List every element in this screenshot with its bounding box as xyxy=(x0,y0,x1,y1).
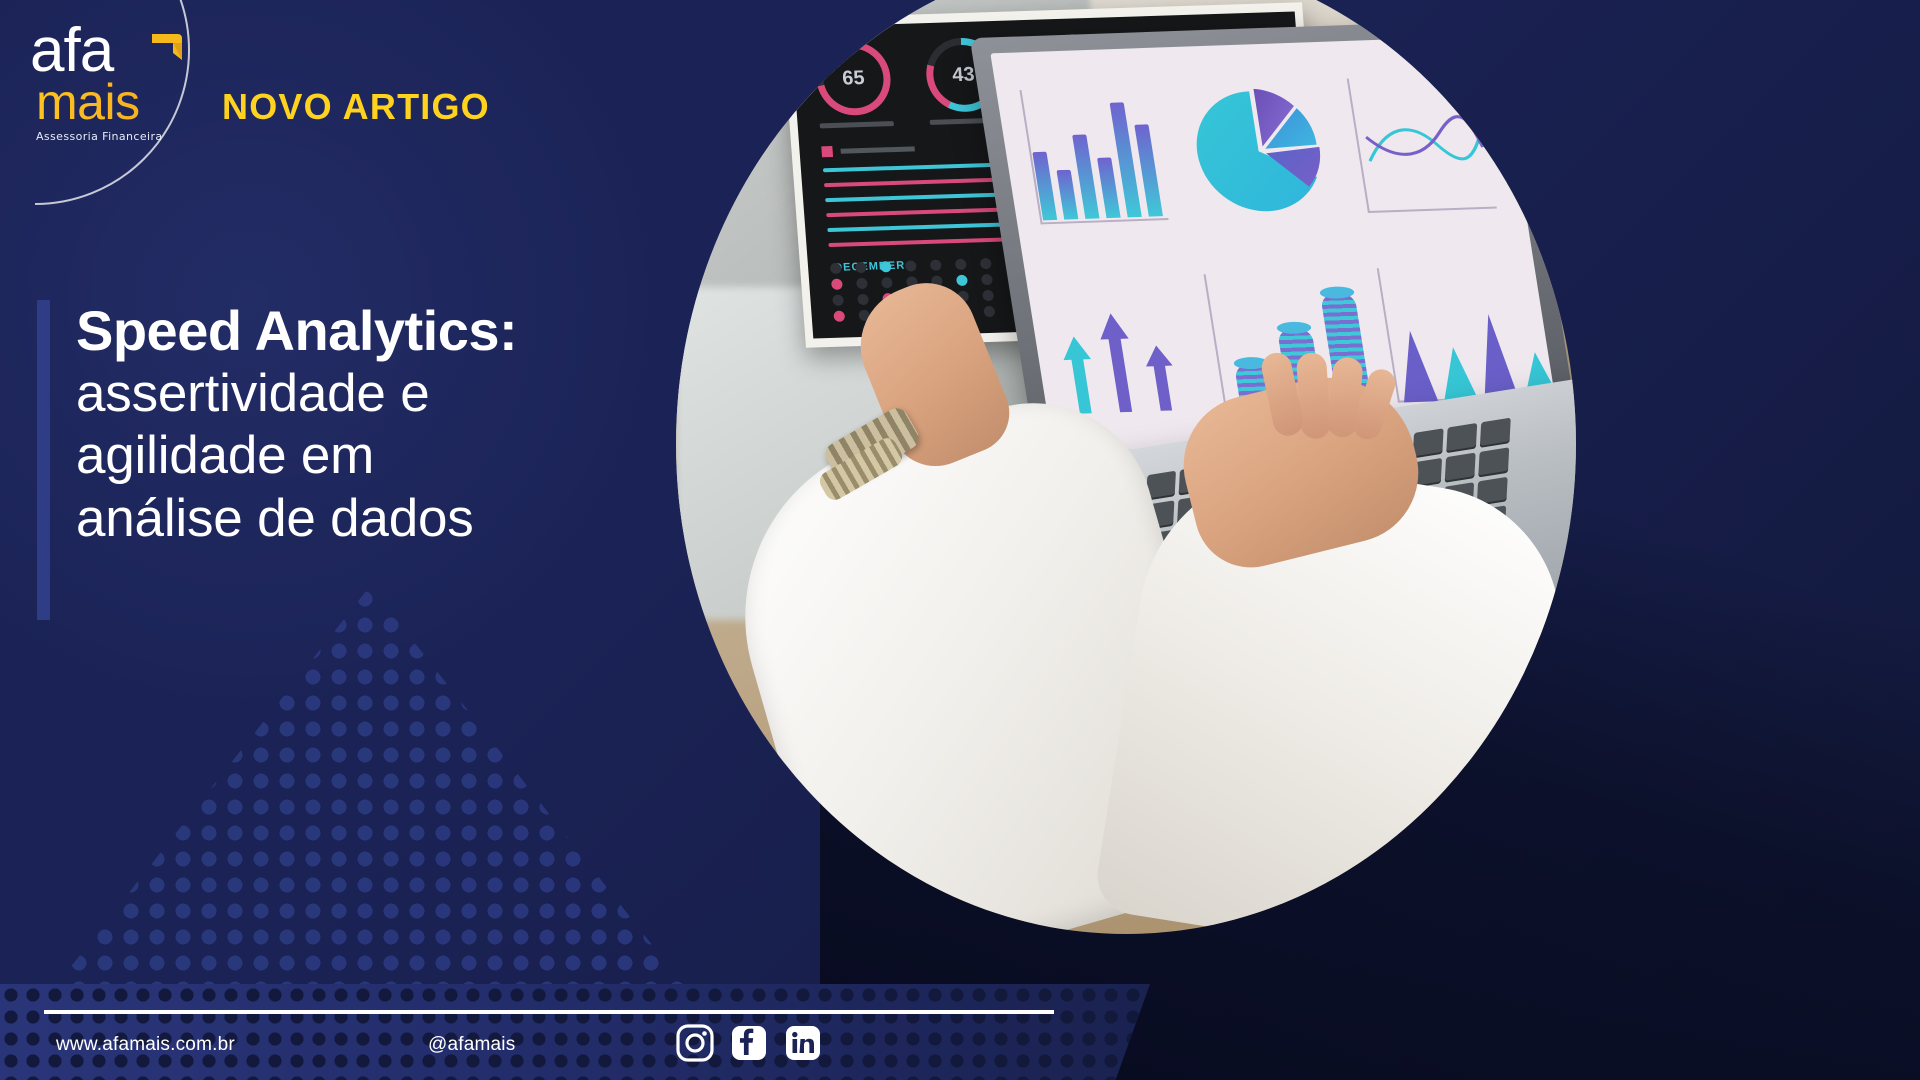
headline: Speed Analytics: assertividade e agilida… xyxy=(76,300,517,620)
gauge-item: 65 xyxy=(814,40,894,128)
pie-chart xyxy=(1167,58,1355,240)
headline-line-1: Speed Analytics: xyxy=(76,300,517,363)
headline-line-3: agilidade em xyxy=(76,425,517,488)
facebook-icon[interactable] xyxy=(730,1024,768,1062)
linkedin-icon[interactable] xyxy=(784,1024,822,1062)
social-post-canvas: afa mais Assessoria Financeira NOVO ARTI… xyxy=(0,0,1920,1080)
gauge-value: 65 xyxy=(841,67,865,91)
hero-photo: 65 43 25 xyxy=(676,0,1576,934)
footer-divider xyxy=(44,1010,1054,1014)
footer: www.afamais.com.br @afamais xyxy=(0,984,1920,1080)
logo-tagline: Assessoria Financeira xyxy=(22,130,202,143)
logo-secondary-text: mais xyxy=(22,79,202,127)
eyebrow-label: NOVO ARTIGO xyxy=(222,86,490,128)
bar-chart xyxy=(1013,64,1180,246)
gauge-caption xyxy=(820,121,894,128)
footer-website[interactable]: www.afamais.com.br xyxy=(56,1034,235,1056)
accent-bar xyxy=(37,300,50,620)
footer-dot-pattern xyxy=(0,984,1150,1080)
headline-block: Speed Analytics: assertividade e agilida… xyxy=(37,300,517,620)
instagram-icon[interactable] xyxy=(676,1024,714,1062)
brand-logo: afa mais Assessoria Financeira xyxy=(22,22,202,143)
line-chart xyxy=(1341,52,1508,234)
footer-handle[interactable]: @afamais xyxy=(428,1034,515,1056)
corner-tick-icon xyxy=(150,30,184,64)
decorative-dot-triangle xyxy=(40,586,700,1006)
headline-line-2: assertividade e xyxy=(76,363,517,426)
report-legend xyxy=(821,143,915,157)
gauge-value: 43 xyxy=(951,63,975,87)
social-links xyxy=(676,1024,822,1062)
headline-line-4: análise de dados xyxy=(76,488,517,551)
